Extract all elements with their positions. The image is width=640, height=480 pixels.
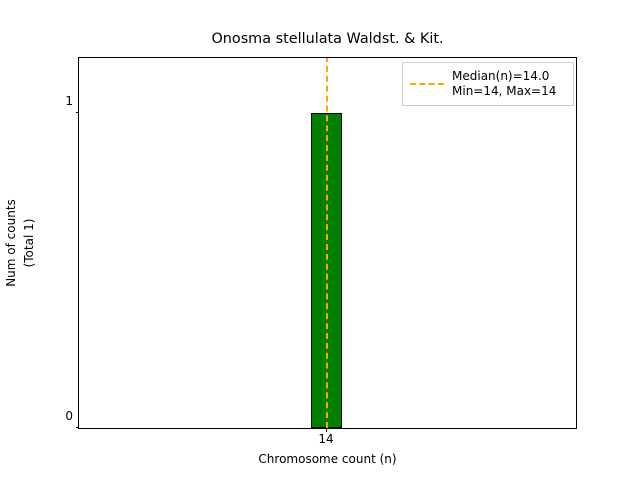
chart-title: Onosma stellulata Waldst. & Kit. (78, 31, 577, 48)
y-axis-label-total: (Total 1) (22, 219, 36, 268)
plot-area: 0 1 14 (78, 57, 577, 429)
x-tick-mark-14 (326, 428, 327, 432)
plot-clip-region (79, 58, 576, 428)
x-tick-label-14: 14 (318, 433, 333, 445)
y-tick-label-0: 0 (65, 410, 73, 422)
legend-entry-text: Median(n)=14.0 Min=14, Max=14 (452, 69, 556, 99)
chart-figure: Onosma stellulata Waldst. & Kit. Num of … (0, 0, 640, 480)
legend-label-median: Median(n)=14.0 (452, 69, 556, 84)
legend-label-minmax: Min=14, Max=14 (452, 84, 556, 99)
y-axis-label: Num of counts (4, 199, 18, 287)
legend-entry-median: Median(n)=14.0 Min=14, Max=14 (410, 69, 565, 99)
legend-dashed-line-icon (410, 78, 444, 90)
y-tick-label-1: 1 (65, 95, 73, 107)
median-line (326, 58, 328, 428)
legend: Median(n)=14.0 Min=14, Max=14 (402, 62, 574, 106)
y-axis-label-group: Num of counts (Total 1) (0, 57, 40, 429)
x-axis-label: Chromosome count (n) (78, 452, 577, 466)
